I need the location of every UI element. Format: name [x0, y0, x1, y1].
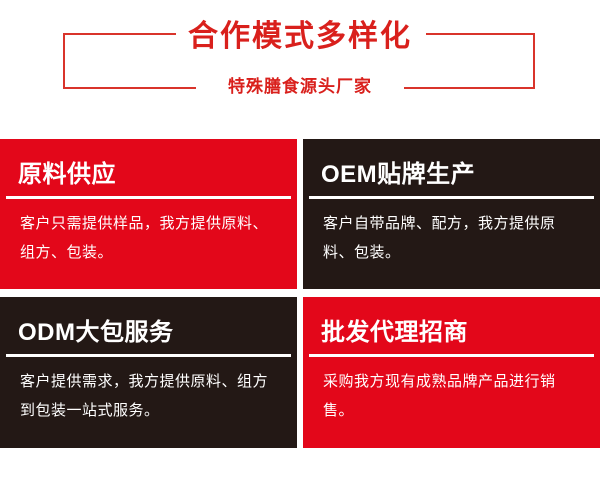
card-title: 原料供应	[18, 161, 116, 189]
card-body-text: 客户提供需求，我方提供原料、组方到包装一站式服务。	[20, 367, 283, 425]
card-divider	[6, 354, 291, 357]
card-body-text: 客户只需提供样品，我方提供原料、组方、包装。	[20, 209, 283, 267]
page-subtitle: 特殊膳食源头厂家	[0, 76, 600, 98]
card-divider	[309, 354, 594, 357]
card-title: 批发代理招商	[321, 319, 468, 347]
page-header: 合作模式多样化 特殊膳食源头厂家	[0, 0, 600, 135]
cooperation-model-card-grid: 原料供应 客户只需提供样品，我方提供原料、组方、包装。 OEM贴牌生产 客户自带…	[0, 139, 600, 448]
card-title: OEM贴牌生产	[321, 161, 475, 189]
card-wholesale-agency[interactable]: 批发代理招商 采购我方现有成熟品牌产品进行销售。	[303, 297, 600, 448]
card-divider	[309, 196, 594, 199]
card-body-text: 采购我方现有成熟品牌产品进行销售。	[323, 367, 586, 425]
page-title: 合作模式多样化	[0, 20, 600, 54]
card-divider	[6, 196, 291, 199]
card-body-text: 客户自带品牌、配方，我方提供原料、包装。	[323, 209, 586, 267]
card-title: ODM大包服务	[18, 319, 174, 347]
card-raw-material-supply[interactable]: 原料供应 客户只需提供样品，我方提供原料、组方、包装。	[0, 139, 297, 289]
card-odm-full-service[interactable]: ODM大包服务 客户提供需求，我方提供原料、组方到包装一站式服务。	[0, 297, 297, 448]
card-oem-production[interactable]: OEM贴牌生产 客户自带品牌、配方，我方提供原料、包装。	[303, 139, 600, 289]
